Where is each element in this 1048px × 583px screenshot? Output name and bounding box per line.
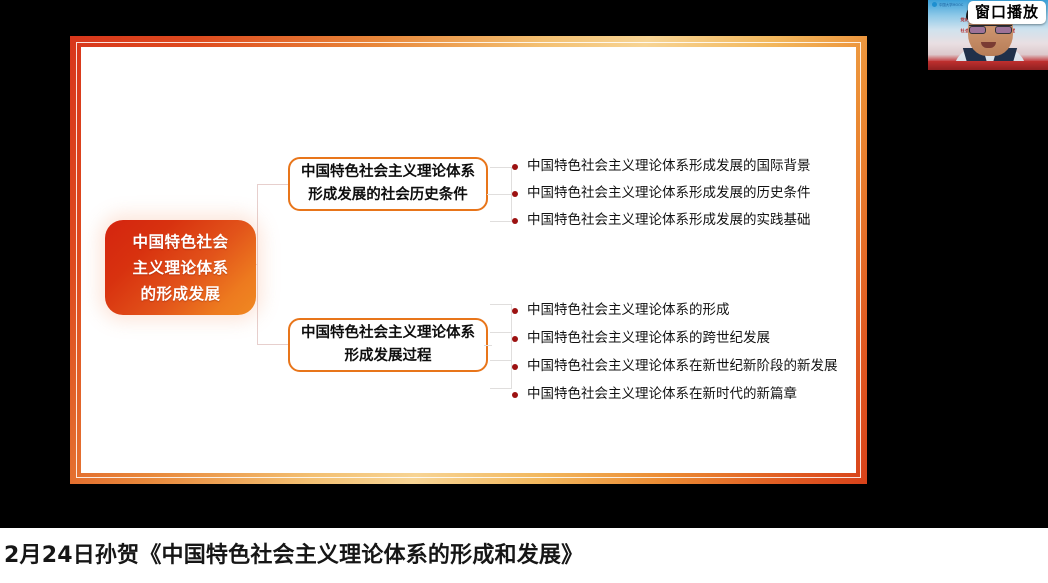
- speaker-glasses-icon: [969, 25, 1012, 34]
- logo-label: 中国大学MOOC: [939, 2, 963, 7]
- glasses-lens-right: [995, 26, 1012, 34]
- logo-mark-icon: [932, 2, 937, 7]
- root-line-1: 中国特色社会: [132, 229, 228, 255]
- list-item[interactable]: 中国特色社会主义理论体系形成发展的实践基础: [512, 210, 811, 231]
- list-item[interactable]: 中国特色社会主义理论体系的形成: [512, 300, 838, 321]
- branch-node-1[interactable]: 中国特色社会主义理论体系 形成发展的社会历史条件: [288, 157, 488, 211]
- page-title: 2月24日孙贺《中国特色社会主义理论体系的形成和发展》: [0, 541, 583, 571]
- root-line-3: 的形成发展: [140, 281, 220, 307]
- bullet-text: 中国特色社会主义理论体系形成发展的国际背景: [527, 157, 811, 176]
- bullet-text: 中国特色社会主义理论体系在新世纪新阶段的新发展: [527, 357, 838, 376]
- mooc-logo: 中国大学MOOC: [932, 2, 963, 7]
- mindmap-root-node[interactable]: 中国特色社会 主义理论体系 的形成发展: [105, 220, 256, 315]
- branch-node-2[interactable]: 中国特色社会主义理论体系 形成发展过程: [288, 318, 488, 372]
- bullet-text: 中国特色社会主义理论体系形成发展的历史条件: [527, 184, 811, 203]
- list-item[interactable]: 中国特色社会主义理论体系在新世纪新阶段的新发展: [512, 356, 838, 377]
- list-item[interactable]: 中国特色社会主义理论体系在新时代的新篇章: [512, 384, 838, 405]
- glasses-lens-left: [969, 26, 986, 34]
- bullet-text: 中国特色社会主义理论体系形成发展的实践基础: [527, 211, 811, 230]
- connector-branch-2-tick-2: [490, 360, 512, 361]
- branch-1-bullet-list: 中国特色社会主义理论体系形成发展的国际背景 中国特色社会主义理论体系形成发展的历…: [512, 156, 811, 237]
- bullet-dot-icon: [512, 364, 518, 370]
- branch-1-title-line-1: 中国特色社会主义理论体系: [301, 161, 475, 184]
- bullet-dot-icon: [512, 336, 518, 342]
- connector-branch-2-bracket: [490, 304, 512, 389]
- slide-frame: 中国特色社会 主义理论体系 的形成发展 中国特色社会主义理论体系 形成发展的社会…: [70, 36, 867, 484]
- branch-2-bullet-list: 中国特色社会主义理论体系的形成 中国特色社会主义理论体系的跨世纪发展 中国特色社…: [512, 300, 838, 412]
- connector-root-bracket: [257, 184, 289, 345]
- branch-2-title-line-2: 形成发展过程: [345, 345, 432, 368]
- slide-canvas: 中国特色社会 主义理论体系 的形成发展 中国特色社会主义理论体系 形成发展的社会…: [81, 47, 856, 473]
- bullet-text: 中国特色社会主义理论体系在新时代的新篇章: [527, 385, 797, 404]
- window-play-button[interactable]: 窗口播放: [968, 1, 1046, 24]
- bullet-dot-icon: [512, 392, 518, 398]
- speaker-video-overlay[interactable]: 中国大学MOOC 党的二十大精神与中国特色 社会主义理论体系学习课堂 窗口播放: [928, 0, 1048, 70]
- video-stage[interactable]: 中国特色社会 主义理论体系 的形成发展 中国特色社会主义理论体系 形成发展的社会…: [0, 0, 1048, 528]
- branch-1-title-line-2: 形成发展的社会历史条件: [308, 184, 468, 207]
- bullet-dot-icon: [512, 191, 518, 197]
- list-item[interactable]: 中国特色社会主义理论体系形成发展的历史条件: [512, 183, 811, 204]
- connector-branch-1-bracket: [490, 167, 512, 222]
- bullet-text: 中国特色社会主义理论体系的跨世纪发展: [527, 329, 770, 348]
- banner-bottom-fringe: [928, 61, 1048, 70]
- branch-2-title-line-1: 中国特色社会主义理论体系: [301, 322, 475, 345]
- list-item[interactable]: 中国特色社会主义理论体系形成发展的国际背景: [512, 156, 811, 177]
- root-line-2: 主义理论体系: [132, 255, 228, 281]
- bullet-dot-icon: [512, 164, 518, 170]
- connector-branch-2-tick-1: [490, 332, 512, 333]
- bullet-text: 中国特色社会主义理论体系的形成: [527, 301, 730, 320]
- connector-branch-1-tick-mid: [490, 194, 512, 195]
- bullet-dot-icon: [512, 308, 518, 314]
- bullet-dot-icon: [512, 218, 518, 224]
- list-item[interactable]: 中国特色社会主义理论体系的跨世纪发展: [512, 328, 838, 349]
- caption-bar: 2月24日孙贺《中国特色社会主义理论体系的形成和发展》: [0, 528, 1048, 583]
